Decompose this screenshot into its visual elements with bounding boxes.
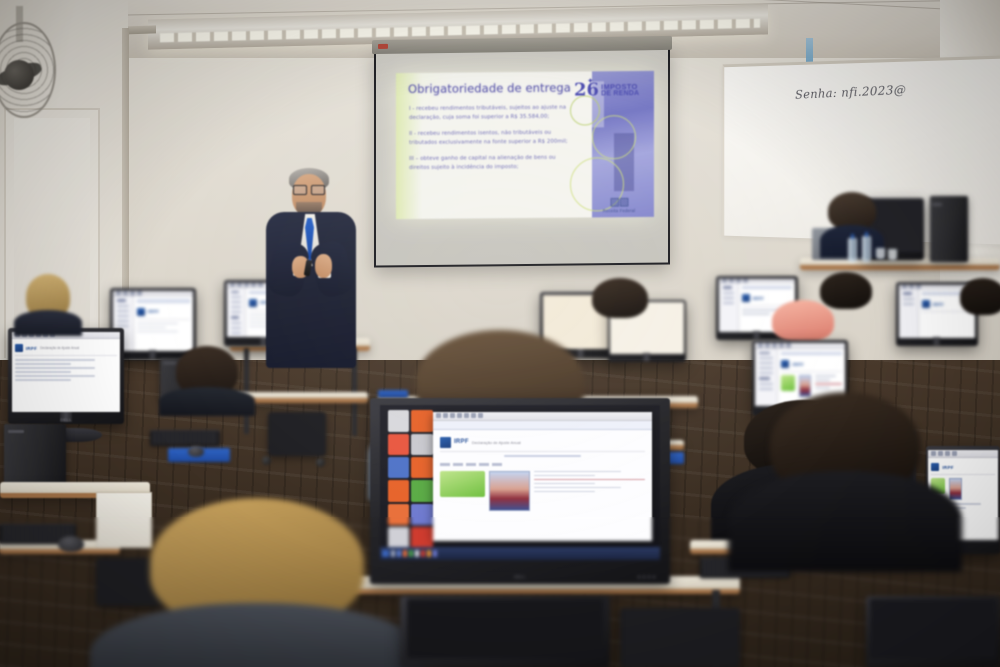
irpf-form-lines (815, 375, 842, 391)
windows-desktop: IRPF Declaração de Ajuste Anual (380, 405, 661, 559)
windows-taskbar[interactable] (380, 547, 661, 559)
receita-federal-name: Receita Federal (592, 208, 646, 213)
desktop-icon[interactable] (388, 480, 409, 501)
irpf-logo-icon (922, 300, 930, 308)
logo-line-2: DE RENDA (601, 90, 639, 97)
attendee-torso (14, 310, 83, 336)
chair[interactable] (268, 412, 326, 456)
irpf-app-name: IRPF (753, 296, 764, 301)
keyboard[interactable] (150, 430, 220, 446)
irpf-form-lines (534, 471, 645, 495)
desktop-icon[interactable] (388, 410, 409, 431)
slide-paragraph-1: I - recebeu rendimentos tributáveis, suj… (409, 104, 574, 123)
irpf-app-name: IRPF (26, 346, 37, 351)
desk-leg (244, 348, 249, 434)
mousepad (378, 390, 408, 398)
attendee-left-blond (26, 274, 70, 336)
window-content: IRPF Declaração de Ajuste Anual (433, 430, 652, 542)
mouse[interactable] (58, 536, 84, 552)
desktop-icon[interactable] (411, 527, 432, 548)
irpf-header: IRPF Declaração de Ajuste Anual (15, 342, 118, 356)
monitor-screen: IRPF (113, 291, 194, 351)
slide-paragraph-3: III – obteve ganho de capital na alienaç… (409, 154, 574, 173)
irpf-toolbar-row[interactable] (440, 463, 645, 466)
irpf-app-name: IRPF (792, 362, 803, 367)
monitor-stand-neck (149, 350, 157, 359)
desktop-icon-grid[interactable] (388, 410, 433, 560)
water-bottle (848, 238, 857, 262)
irpf-form-lines (137, 323, 191, 333)
irpf-header: IRPF (781, 358, 842, 372)
desktop-tower (4, 424, 66, 486)
irpf-app-name: IRPF (942, 465, 953, 470)
classroom-scene: Senha: nfi.2023@ Obrigatoriedade de entr… (0, 0, 1000, 667)
attendee-back-right (960, 278, 1000, 330)
chair-wheel (262, 456, 271, 465)
monitor-brand-logo: DELL (60, 417, 72, 422)
monitor-screen (407, 599, 604, 658)
monitor-screen (870, 599, 995, 658)
irpf-window: IRPF (113, 291, 194, 351)
window-toolbar[interactable] (928, 450, 997, 458)
slide-paragraph-2: II - recebeu rendimentos isentos, não tr… (409, 129, 574, 148)
desk (236, 392, 368, 403)
whiteboard-handwriting: Senha: nfi.2023@ (795, 82, 906, 101)
window-content: IRPF (134, 296, 194, 350)
irpf-app-name: IRPF (933, 302, 944, 307)
irpf-logo-icon (742, 294, 750, 302)
monitor-screen: IRPF Declaração de Ajuste Anual (12, 332, 121, 412)
water-bottle (862, 236, 871, 262)
attendee-torso (159, 387, 256, 416)
monitor-screen: IRPF Declaração de Ajuste Anual (380, 405, 661, 559)
desktop-icon[interactable] (411, 434, 432, 455)
attendee-right-dark (820, 272, 872, 324)
irpf-titlebar (137, 299, 191, 302)
monitor (866, 596, 1000, 667)
desktop-icon[interactable] (411, 480, 432, 501)
presenter-hand-right (315, 254, 332, 278)
irpf-logo-icon (137, 308, 145, 316)
monitor-stand-neck (643, 353, 650, 360)
irpf-green-badge (440, 471, 485, 497)
wall-fan-icon (0, 22, 56, 118)
attendee-back-dark (770, 392, 920, 572)
mouse[interactable] (188, 446, 204, 457)
attendee-center-dark (592, 278, 648, 334)
slide-body: I - recebeu rendimentos tributáveis, suj… (409, 104, 574, 180)
window-sidebar[interactable] (899, 289, 919, 337)
window-content: IRPF Declaração de Ajuste Anual (12, 339, 121, 412)
irpf-green-badge (781, 375, 794, 391)
monitor (400, 596, 610, 667)
monitor-brand-logo: DELL (514, 574, 526, 579)
desktop-icon[interactable] (411, 410, 432, 431)
desktop-icon[interactable] (388, 527, 409, 548)
monitor: IRPF Declaração de Ajuste Anual DELL (8, 328, 124, 424)
irpf-portrait-image (489, 471, 530, 511)
window-toolbar[interactable] (433, 412, 652, 421)
irpf-divider (504, 455, 582, 457)
attendee-head (820, 272, 872, 309)
irpf-header: IRPF (931, 461, 994, 475)
irpf-window: IRPF Declaração de Ajuste Anual (12, 332, 121, 412)
attendee-head (960, 278, 1000, 315)
irpf-portrait-image (949, 478, 962, 500)
imposto-de-renda-logo: ✦ 26 IMPOSTO DE RENDA (574, 77, 648, 104)
monitor-stand-neck (753, 331, 760, 339)
irpf-content-row (440, 471, 645, 511)
chair[interactable] (620, 608, 740, 667)
attendee-head (592, 278, 648, 318)
cup (876, 248, 885, 259)
irpf-header: IRPF Declaração de Ajuste Anual (440, 435, 645, 452)
window-sidebar[interactable] (719, 283, 739, 331)
irpf-app-subtitle: Declaração de Ajuste Anual (472, 440, 521, 445)
cup (888, 249, 897, 260)
receita-federal-logo: ▧▧ Receita Federal (592, 195, 646, 213)
desktop-icon[interactable] (411, 504, 432, 525)
irpf-form-lines (15, 359, 118, 381)
irpf-header: IRPF (137, 306, 191, 320)
irpf-window: IRPF Declaração de Ajuste Anual (433, 412, 652, 542)
desktop-icon[interactable] (388, 457, 409, 478)
start-button[interactable] (382, 550, 389, 557)
presentation-slide: Obrigatoriedade de entrega ✦ 26 IMPOSTO … (396, 71, 654, 219)
monitor-stand-neck (933, 337, 940, 345)
desktop-icon[interactable] (388, 504, 409, 525)
irpf-logo-icon (781, 360, 789, 368)
irpf-logo-icon (440, 437, 451, 448)
monitor: IRPF Declaração de Ajuste Anual (370, 398, 670, 584)
attendee-front-left (150, 498, 364, 667)
slide-title: Obrigatoriedade de entrega (408, 81, 571, 96)
attendee-left-dark (176, 346, 238, 416)
irpf-app-name: IRPF (148, 309, 159, 314)
slide-ring-decoration (592, 115, 636, 159)
window-sidebar[interactable] (227, 288, 246, 338)
irpf-app-subtitle: Declaração de Ajuste Anual (40, 346, 79, 350)
irpf-titlebar (742, 286, 793, 289)
fan-hub (4, 60, 34, 90)
desktop-tower (930, 196, 968, 262)
irpf-logo-icon (15, 344, 23, 352)
glasses-icon (293, 185, 325, 193)
logo-star-icon: ✦ (587, 76, 594, 85)
irpf-logo-icon (931, 463, 939, 471)
receita-federal-mark-icon: ▧▧ (592, 195, 646, 208)
monitor-buttons[interactable] (638, 576, 655, 578)
chair-wheel (316, 458, 325, 467)
desk-modesty-panel (96, 492, 152, 548)
irpf-app-name: IRPF (454, 439, 469, 445)
irpf-titlebar (781, 352, 842, 356)
attendee-torso (728, 471, 962, 572)
desktop-icon[interactable] (411, 457, 432, 478)
irpf-address-bar[interactable] (433, 421, 652, 430)
presenter (252, 168, 368, 368)
desktop-icon[interactable] (388, 434, 409, 455)
